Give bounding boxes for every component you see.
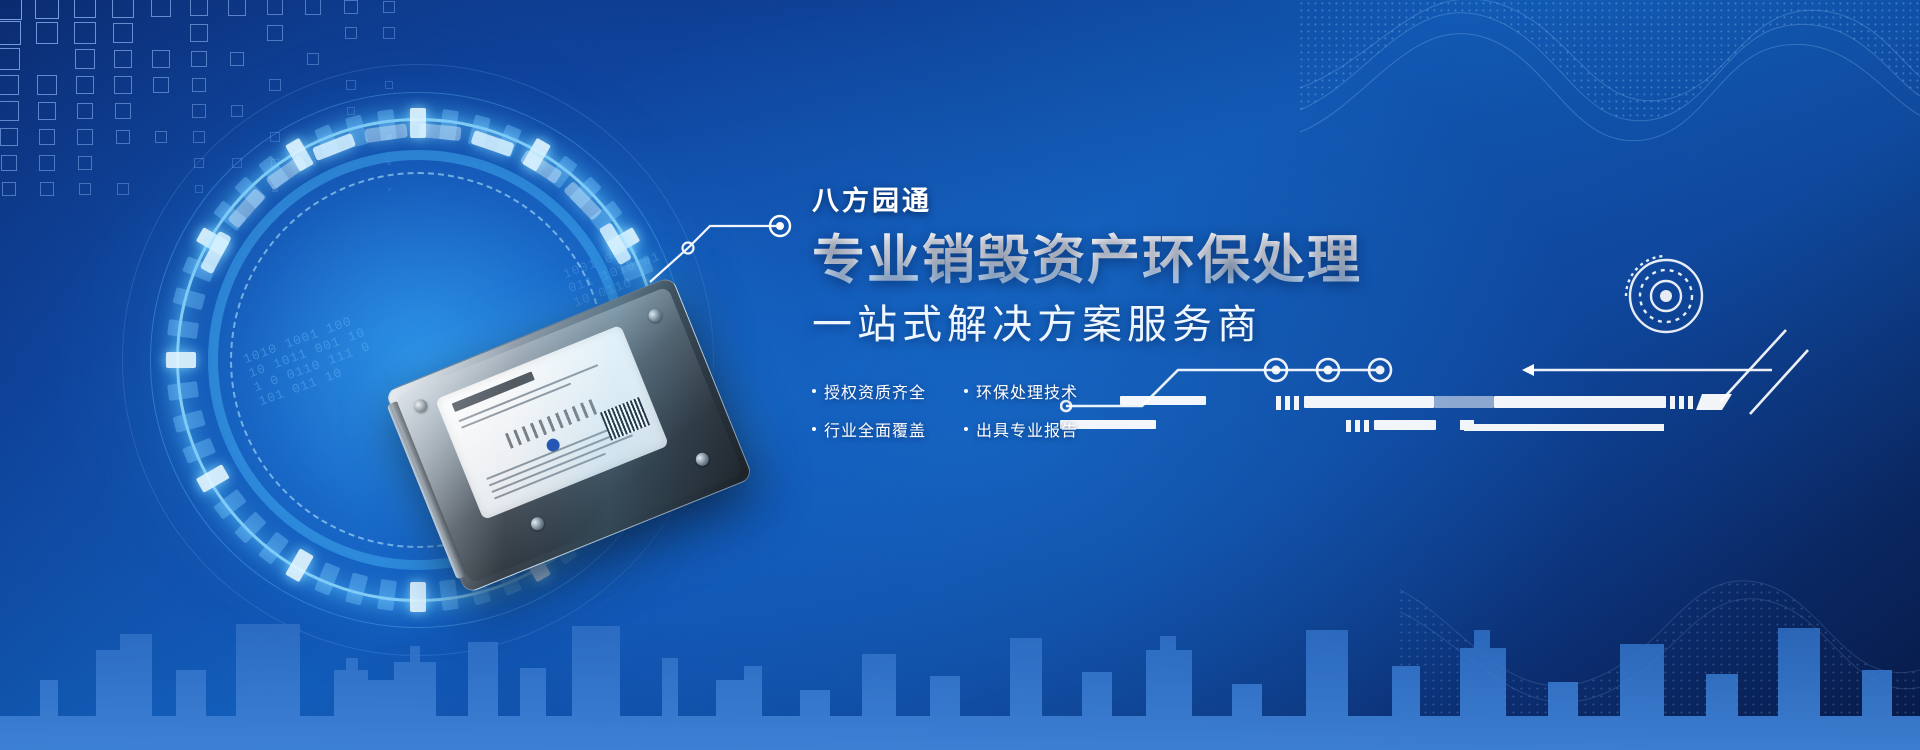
feature-label: 环保处理技术	[976, 379, 1078, 403]
grid-square	[153, 77, 169, 93]
grid-square	[190, 0, 209, 16]
grid-square	[74, 0, 97, 18]
grid-square	[36, 22, 58, 44]
grid-square	[0, 101, 19, 120]
grid-square	[155, 131, 168, 144]
feature-item: 环保处理技术	[964, 379, 1096, 403]
grid-square	[112, 0, 133, 18]
grid-square	[2, 182, 17, 197]
grid-square	[39, 129, 56, 146]
ring-tick	[410, 582, 426, 612]
feature-label: 授权资质齐全	[824, 379, 926, 403]
grid-square	[117, 183, 128, 194]
grid-square	[191, 51, 207, 67]
brand-name: 八方园通	[812, 185, 1532, 217]
grid-square	[230, 52, 245, 67]
grid-square	[114, 50, 132, 68]
feature-item: 授权资质齐全	[812, 379, 944, 403]
grid-square	[76, 76, 94, 94]
grid-square	[0, 21, 21, 45]
grid-square	[0, 0, 22, 20]
grid-square	[1, 155, 17, 171]
grid-square	[151, 0, 171, 17]
banner-copy: 八方园通 专业销毁资产环保处理 一站式解决方案服务商 授权资质齐全 环保处理技术…	[812, 185, 1532, 441]
grid-square	[74, 22, 95, 43]
grid-square	[115, 103, 131, 119]
grid-square	[0, 128, 18, 146]
grid-square	[116, 130, 130, 144]
bullet-dot-icon	[964, 427, 968, 431]
bullet-dot-icon	[812, 389, 816, 393]
grid-square	[75, 49, 95, 69]
grid-square	[40, 182, 54, 196]
grid-square	[113, 23, 133, 43]
grid-square	[0, 48, 20, 70]
bullet-dot-icon	[812, 427, 816, 431]
grid-square	[78, 156, 92, 170]
grid-square	[267, 25, 282, 40]
grid-square	[77, 129, 92, 144]
grid-square	[114, 76, 131, 93]
grid-square	[228, 0, 246, 16]
feature-item: 行业全面覆盖	[812, 417, 944, 441]
bullet-dot-icon	[964, 389, 968, 393]
hero-banner: 1010 1001 100 10 1011 001 10 1 0 0110 11…	[0, 0, 1920, 750]
grid-square	[190, 24, 208, 42]
grid-square	[35, 0, 59, 19]
feature-label: 出具专业报告	[976, 417, 1078, 441]
feature-list: 授权资质齐全 环保处理技术 行业全面覆盖 出具专业报告	[812, 379, 1532, 441]
circuit-node-icon	[1600, 240, 1720, 360]
grid-square	[192, 78, 207, 93]
headline: 专业销毁资产环保处理	[812, 231, 1532, 290]
grid-square	[267, 0, 284, 15]
grid-square	[344, 0, 358, 14]
ring-tick	[166, 352, 196, 368]
feature-label: 行业全面覆盖	[824, 417, 926, 441]
grid-square	[305, 0, 320, 15]
grid-square	[38, 102, 56, 120]
grid-square	[383, 1, 396, 14]
grid-square	[37, 75, 56, 94]
grid-square	[39, 155, 54, 170]
feature-item: 出具专业报告	[964, 417, 1096, 441]
subheadline: 一站式解决方案服务商	[812, 301, 1532, 349]
grid-square	[0, 75, 19, 96]
hdd-tech-ring	[168, 110, 668, 610]
grid-square	[79, 183, 91, 195]
grid-square	[77, 103, 94, 120]
wireframe-mesh-lower-icon	[1400, 430, 1920, 750]
grid-square	[152, 50, 169, 67]
